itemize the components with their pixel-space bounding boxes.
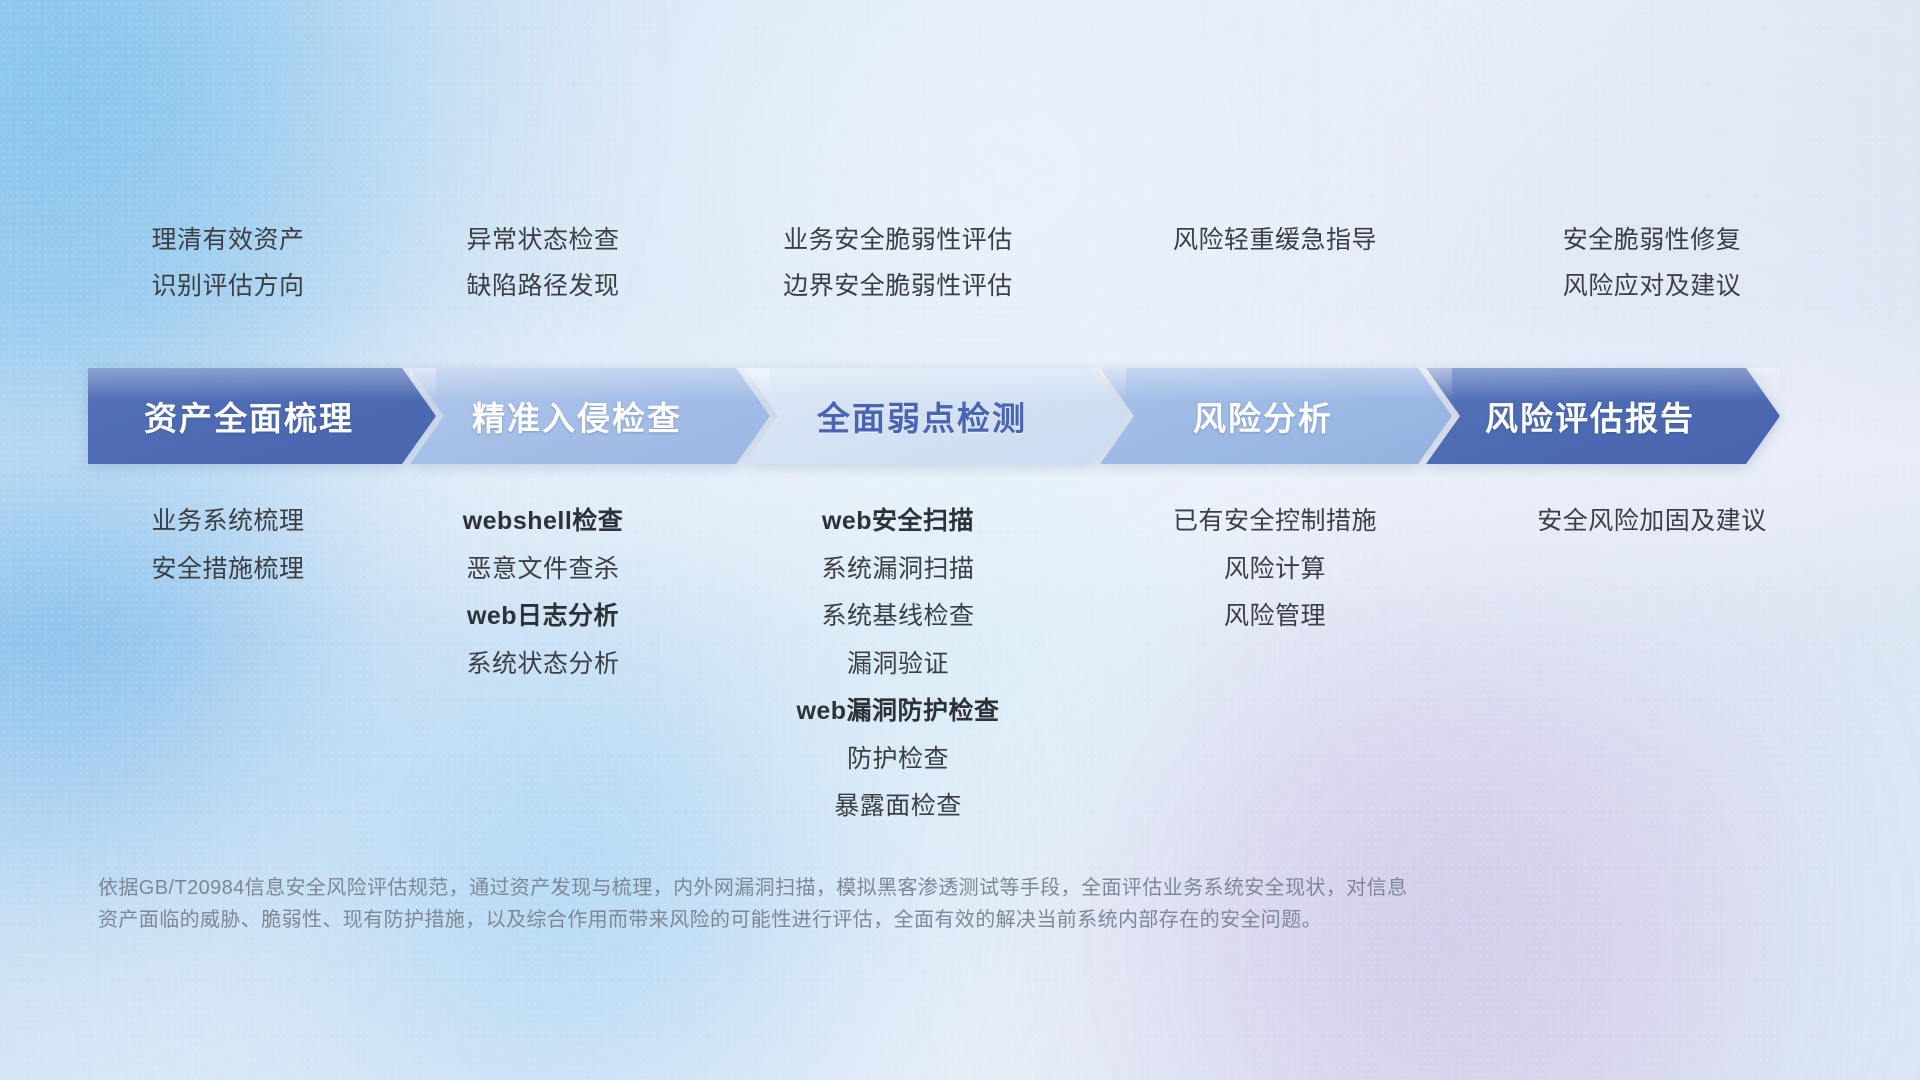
list-item: 系统状态分析	[466, 648, 619, 681]
top-item: 风险应对及建议	[1563, 270, 1742, 302]
content-layer: 理清有效资产 识别评估方向 异常状态检查 缺陷路径发现 业务安全脆弱性评估 边界…	[0, 0, 1920, 1080]
bottom-column-asset-inventory: 业务系统梳理 安全措施梳理	[78, 505, 378, 823]
list-item: 防护检查	[847, 743, 949, 776]
list-item: web日志分析	[467, 600, 619, 633]
list-item: 风险计算	[1224, 553, 1326, 586]
list-item: web漏洞防护检查	[796, 695, 999, 728]
top-item: 业务安全脆弱性评估	[783, 224, 1013, 256]
list-item: 系统基线检查	[821, 600, 974, 633]
chevron-label: 风险评估报告	[1485, 392, 1721, 440]
list-item: 业务系统梳理	[151, 505, 304, 538]
top-column-asset-inventory: 理清有效资产 识别评估方向	[78, 224, 378, 302]
top-column-weakness-detection: 业务安全脆弱性评估 边界安全脆弱性评估	[708, 224, 1088, 302]
top-item: 异常状态检查	[466, 224, 619, 256]
process-chevron-banner: 资产全面梳理 精准入侵检查 全面弱点检测 风险分析 风险评估报告	[88, 368, 1832, 464]
bottom-column-risk-analysis: 已有安全控制措施 风险计算 风险管理	[1088, 505, 1462, 823]
list-item: 暴露面检查	[834, 790, 962, 823]
top-item: 边界安全脆弱性评估	[783, 270, 1013, 302]
chevron-stage-intrusion-check[interactable]: 精准入侵检查	[410, 368, 770, 464]
list-item: 系统漏洞扫描	[821, 553, 974, 586]
bottom-lists-row: 业务系统梳理 安全措施梳理 webshell检查 恶意文件查杀 web日志分析 …	[78, 505, 1842, 823]
chevron-stage-weakness-detection[interactable]: 全面弱点检测	[744, 368, 1126, 464]
footer-line-2: 资产面临的威胁、脆弱性、现有防护措施，以及综合作用而带来风险的可能性进行评估，全…	[98, 904, 1658, 936]
infographic-canvas: 理清有效资产 识别评估方向 异常状态检查 缺陷路径发现 业务安全脆弱性评估 边界…	[0, 0, 1920, 1080]
top-column-intrusion-check: 异常状态检查 缺陷路径发现	[378, 224, 708, 302]
top-item: 理清有效资产	[151, 224, 304, 256]
footer-line-1: 依据GB/T20984信息安全风险评估规范，通过资产发现与梳理，内外网漏洞扫描，…	[98, 872, 1658, 904]
list-item: web安全扫描	[822, 505, 974, 538]
top-column-risk-report: 安全脆弱性修复 风险应对及建议	[1462, 224, 1842, 302]
list-item: 风险管理	[1224, 600, 1326, 633]
chevron-stage-asset-inventory[interactable]: 资产全面梳理	[88, 368, 436, 464]
top-item: 安全脆弱性修复	[1563, 224, 1742, 256]
chevron-label: 精准入侵检查	[472, 392, 708, 440]
footer-description: 依据GB/T20984信息安全风险评估规范，通过资产发现与梳理，内外网漏洞扫描，…	[98, 872, 1658, 937]
top-item: 风险轻重缓急指导	[1173, 224, 1377, 256]
list-item: 安全风险加固及建议	[1537, 505, 1767, 538]
list-item: 漏洞验证	[847, 648, 949, 681]
top-item: 缺陷路径发现	[466, 270, 619, 302]
chevron-label: 资产全面梳理	[144, 392, 380, 440]
chevron-label: 风险分析	[1193, 392, 1359, 440]
list-item: webshell检查	[463, 505, 624, 538]
list-item: 安全措施梳理	[151, 553, 304, 586]
bottom-column-risk-report: 安全风险加固及建议	[1462, 505, 1842, 823]
chevron-stage-risk-report[interactable]: 风险评估报告	[1426, 368, 1780, 464]
top-item: 识别评估方向	[151, 270, 304, 302]
list-item: 恶意文件查杀	[466, 553, 619, 586]
top-labels-row: 理清有效资产 识别评估方向 异常状态检查 缺陷路径发现 业务安全脆弱性评估 边界…	[78, 224, 1842, 302]
chevron-label: 全面弱点检测	[817, 392, 1053, 440]
bottom-column-weakness-detection: web安全扫描 系统漏洞扫描 系统基线检查 漏洞验证 web漏洞防护检查 防护检…	[708, 505, 1088, 823]
chevron-stage-risk-analysis[interactable]: 风险分析	[1100, 368, 1452, 464]
bottom-column-intrusion-check: webshell检查 恶意文件查杀 web日志分析 系统状态分析	[378, 505, 708, 823]
list-item: 已有安全控制措施	[1173, 505, 1377, 538]
top-column-risk-analysis: 风险轻重缓急指导	[1088, 224, 1462, 302]
